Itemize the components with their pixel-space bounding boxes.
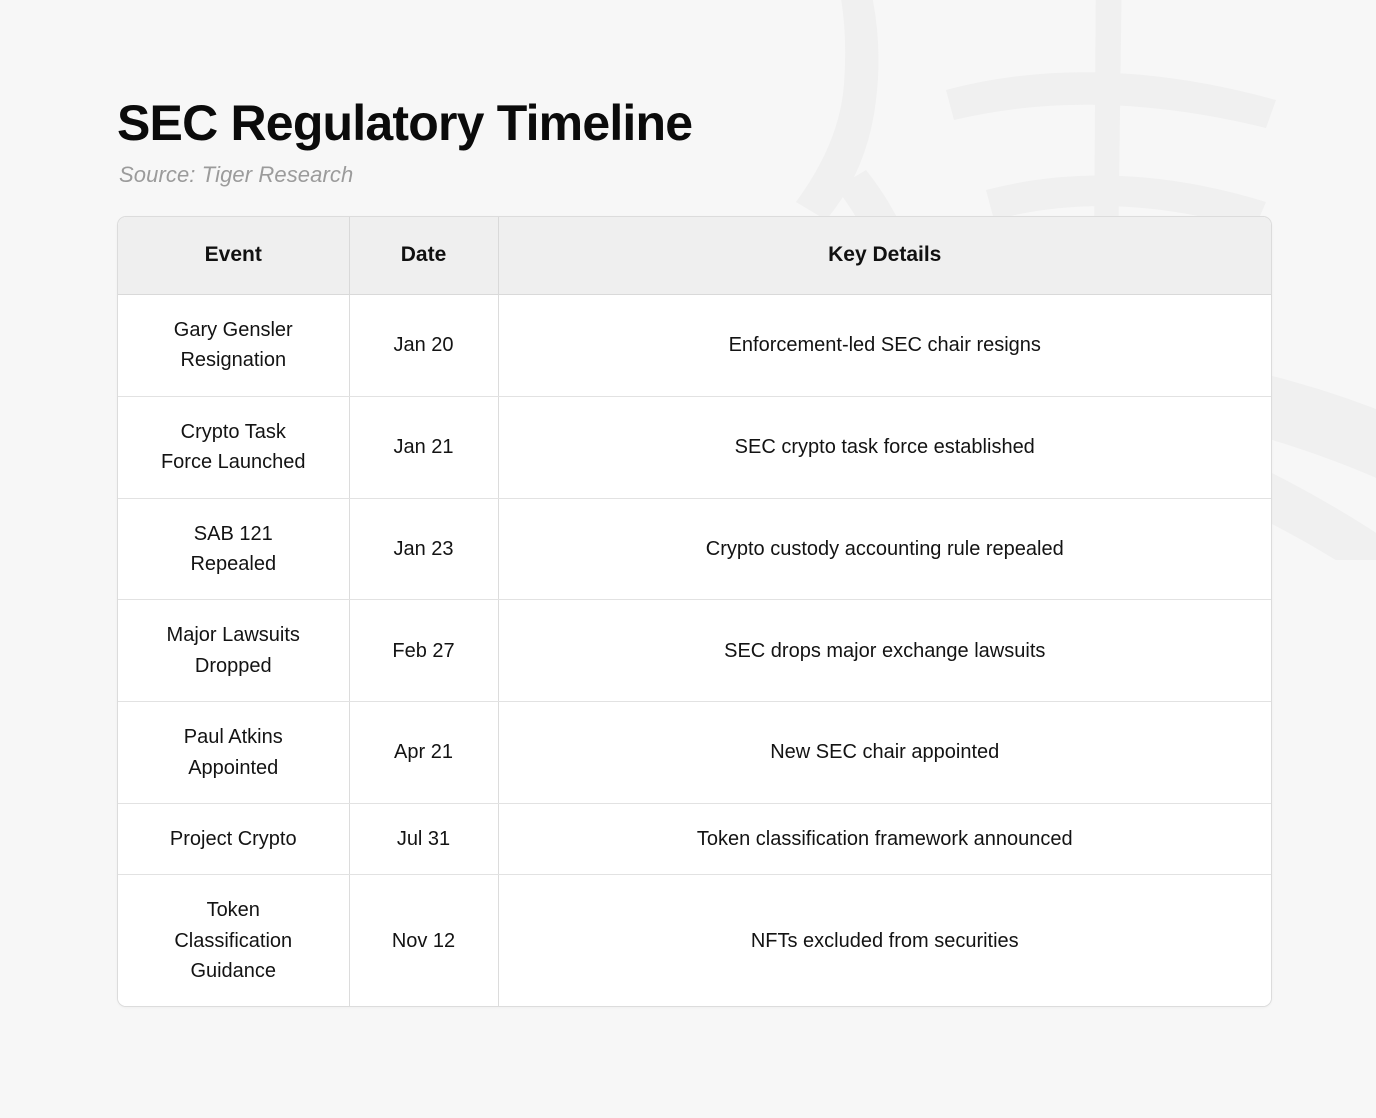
cell-details: SEC crypto task force established xyxy=(498,396,1271,498)
cell-event: Project Crypto xyxy=(118,803,349,874)
cell-date: Jan 20 xyxy=(349,295,498,397)
cell-event: Gary Gensler Resignation xyxy=(118,295,349,397)
cell-details: SEC drops major exchange lawsuits xyxy=(498,600,1271,702)
cell-date: Jan 21 xyxy=(349,396,498,498)
cell-details: NFTs excluded from securities xyxy=(498,875,1271,1007)
cell-details: Token classification framework announced xyxy=(498,803,1271,874)
table-row: SAB 121 Repealed Jan 23 Crypto custody a… xyxy=(118,498,1271,600)
cell-details: New SEC chair appointed xyxy=(498,702,1271,804)
page-content: SEC Regulatory Timeline Source: Tiger Re… xyxy=(0,0,1376,1007)
cell-event: Token Classification Guidance xyxy=(118,875,349,1007)
sec-regulatory-timeline-table: Event Date Key Details Gary Gensler Resi… xyxy=(118,217,1271,1006)
cell-date: Jan 23 xyxy=(349,498,498,600)
page-title: SEC Regulatory Timeline xyxy=(117,96,1376,150)
cell-date: Feb 27 xyxy=(349,600,498,702)
cell-event: Paul Atkins Appointed xyxy=(118,702,349,804)
table-row: Crypto Task Force Launched Jan 21 SEC cr… xyxy=(118,396,1271,498)
column-header-details: Key Details xyxy=(498,217,1271,295)
cell-details: Enforcement-led SEC chair resigns xyxy=(498,295,1271,397)
table-row: Gary Gensler Resignation Jan 20 Enforcem… xyxy=(118,295,1271,397)
cell-date: Nov 12 xyxy=(349,875,498,1007)
table-row: Paul Atkins Appointed Apr 21 New SEC cha… xyxy=(118,702,1271,804)
source-attribution: Source: Tiger Research xyxy=(119,162,1376,188)
cell-event: Crypto Task Force Launched xyxy=(118,396,349,498)
table-row: Token Classification Guidance Nov 12 NFT… xyxy=(118,875,1271,1007)
table-row: Major Lawsuits Dropped Feb 27 SEC drops … xyxy=(118,600,1271,702)
column-header-date: Date xyxy=(349,217,498,295)
table-header: Event Date Key Details xyxy=(118,217,1271,295)
table-body: Gary Gensler Resignation Jan 20 Enforcem… xyxy=(118,295,1271,1007)
table-row: Project Crypto Jul 31 Token classificati… xyxy=(118,803,1271,874)
timeline-table-container: Event Date Key Details Gary Gensler Resi… xyxy=(117,216,1272,1007)
column-header-event: Event xyxy=(118,217,349,295)
cell-date: Apr 21 xyxy=(349,702,498,804)
table-header-row: Event Date Key Details xyxy=(118,217,1271,295)
cell-date: Jul 31 xyxy=(349,803,498,874)
cell-details: Crypto custody accounting rule repealed xyxy=(498,498,1271,600)
cell-event: SAB 121 Repealed xyxy=(118,498,349,600)
cell-event: Major Lawsuits Dropped xyxy=(118,600,349,702)
